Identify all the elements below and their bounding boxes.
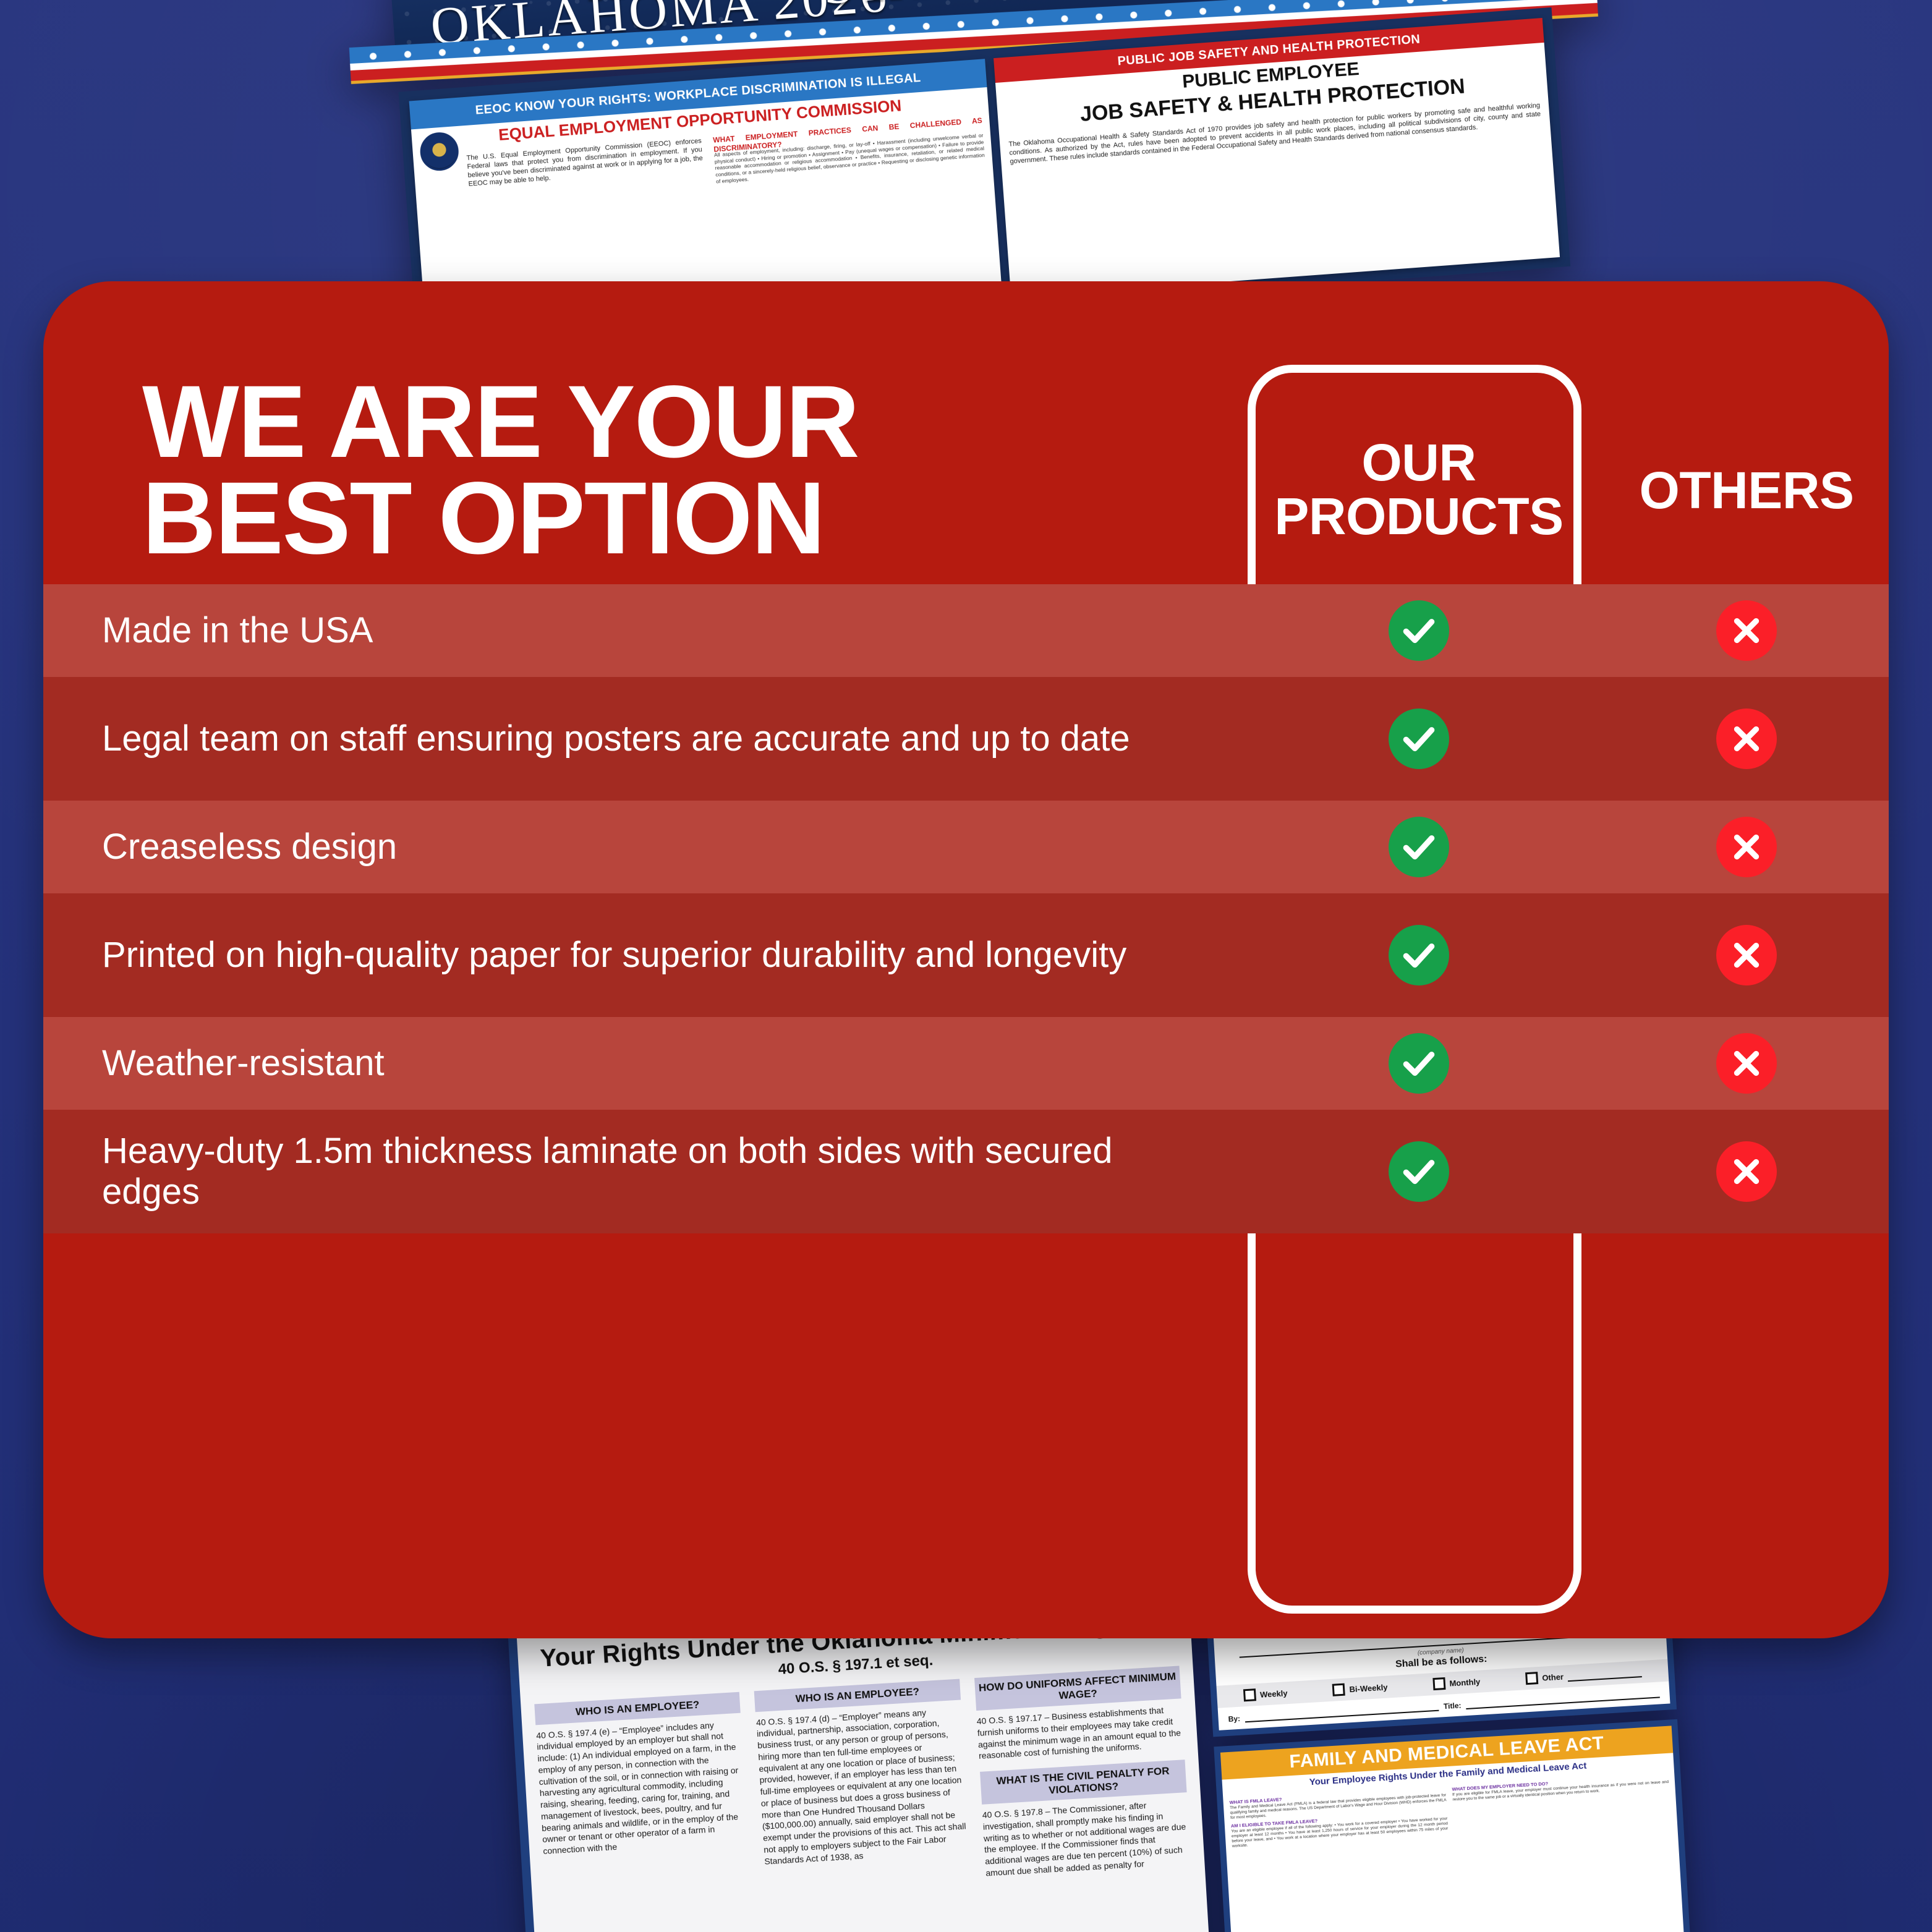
check-icon — [1389, 709, 1449, 769]
comparison-panel: WE ARE YOUR BEST OPTION OUR PRODUCTS OTH… — [43, 281, 1889, 1638]
cell-our-products — [1255, 893, 1583, 1017]
osha-notice-card: Date Posted: Labor laws change frequentl… — [994, 18, 1560, 297]
feature-label: Legal team on staff ensuring posters are… — [43, 718, 1199, 759]
payday-option-monthly[interactable]: Monthly — [1432, 1675, 1481, 1691]
table-row: Creaseless design — [43, 801, 1889, 893]
cross-icon — [1716, 709, 1777, 769]
table-row: Weather-resistant — [43, 1017, 1889, 1110]
table-row: Legal team on staff ensuring posters are… — [43, 677, 1889, 801]
title-label: Title: — [1444, 1701, 1462, 1711]
cell-others — [1589, 677, 1889, 801]
cell-others — [1589, 893, 1889, 1017]
section-body: 40 O.S. § 197.4 (e) – “Employee” include… — [536, 1717, 749, 1857]
headline-line-2: BEST OPTION — [142, 470, 859, 567]
cell-others — [1589, 1017, 1889, 1110]
other-field[interactable] — [1567, 1666, 1642, 1682]
our-products-line-2: PRODUCTS — [1255, 490, 1583, 543]
check-icon — [1389, 600, 1449, 661]
cross-icon — [1716, 1141, 1777, 1202]
check-icon — [1389, 1033, 1449, 1094]
cross-icon — [1716, 817, 1777, 877]
page-title: WE ARE YOUR BEST OPTION — [142, 374, 859, 567]
minimum-wage-sheet: Your Rights Under the Oklahoma Minimum W… — [508, 1595, 1215, 1932]
feature-label: Printed on high-quality paper for superi… — [43, 935, 1199, 976]
cell-others — [1589, 584, 1889, 677]
section-body: 40 O.S. § 197.4 (d) – “Employer” means a… — [755, 1704, 969, 1867]
by-label: By: — [1228, 1714, 1240, 1724]
feature-label: Creaseless design — [43, 827, 1199, 867]
cell-our-products — [1255, 677, 1583, 801]
section-column: WHO IS AN EMPLOYEE? 40 O.S. § 197.4 (d) … — [754, 1679, 971, 1892]
our-products-line-1: OUR — [1255, 436, 1583, 490]
section-heading: HOW DO UNIFORMS AFFECT MINIMUM WAGE? — [974, 1666, 1181, 1711]
checkbox-icon[interactable] — [1243, 1688, 1256, 1701]
section-body: 40 O.S. § 197.8 – The Commissioner, afte… — [982, 1797, 1191, 1879]
check-icon — [1389, 1141, 1449, 1202]
headline-line-1: WE ARE YOUR — [142, 374, 859, 470]
cross-icon — [1716, 600, 1777, 661]
comparison-rows: Made in the USA Legal team on staff ensu… — [43, 584, 1889, 1233]
payday-option-label: Monthly — [1449, 1677, 1481, 1688]
table-row: Made in the USA — [43, 584, 1889, 677]
check-icon — [1389, 817, 1449, 877]
cross-icon — [1716, 925, 1777, 985]
table-row: Printed on high-quality paper for superi… — [43, 893, 1889, 1017]
checkbox-icon[interactable] — [1432, 1677, 1445, 1690]
column-header-others: OTHERS — [1589, 464, 1889, 517]
table-row: Heavy-duty 1.5m thickness laminate on bo… — [43, 1110, 1889, 1233]
cell-our-products — [1255, 1110, 1583, 1233]
cell-others — [1589, 801, 1889, 893]
cell-our-products — [1255, 801, 1583, 893]
payday-option-label: Bi-Weekly — [1349, 1682, 1388, 1694]
column-header-our-products: OUR PRODUCTS — [1255, 436, 1583, 543]
feature-label: Heavy-duty 1.5m thickness laminate on bo… — [43, 1131, 1199, 1212]
fmla-column: WHAT IS FMLA LEAVE? The Family and Medic… — [1229, 1784, 1449, 1849]
minimum-wage-columns: WHO IS AN EMPLOYEE? 40 O.S. § 197.4 (e) … — [534, 1666, 1191, 1905]
cell-our-products — [1255, 584, 1583, 677]
feature-label: Made in the USA — [43, 610, 1199, 651]
payday-option-biweekly[interactable]: Bi-Weekly — [1332, 1681, 1388, 1696]
payday-option-label: Weekly — [1260, 1688, 1288, 1700]
cell-others — [1589, 1110, 1889, 1233]
section-column: HOW DO UNIFORMS AFFECT MINIMUM WAGE? 40 … — [974, 1666, 1191, 1879]
section-column: WHO IS AN EMPLOYEE? 40 O.S. § 197.4 (e) … — [534, 1692, 751, 1905]
fmla-sheet: FAMILY AND MEDICAL LEAVE ACT Your Employ… — [1214, 1719, 1694, 1932]
check-icon — [1389, 925, 1449, 985]
payday-option-weekly[interactable]: Weekly — [1243, 1687, 1288, 1701]
feature-label: Weather-resistant — [43, 1043, 1199, 1084]
checkbox-icon[interactable] — [1525, 1672, 1538, 1685]
fmla-column: WHAT DOES MY EMPLOYER NEED TO DO? If you… — [1452, 1771, 1671, 1836]
payday-option-label: Other — [1542, 1672, 1564, 1682]
cell-our-products — [1255, 1017, 1583, 1110]
checkbox-icon[interactable] — [1332, 1683, 1345, 1696]
section-body: 40 O.S. § 197.17 – Business establishmen… — [976, 1703, 1184, 1762]
section-heading: WHAT IS THE CIVIL PENALTY FOR VIOLATIONS… — [980, 1760, 1187, 1805]
cross-icon — [1716, 1033, 1777, 1094]
payday-option-other[interactable]: Other — [1525, 1666, 1643, 1685]
